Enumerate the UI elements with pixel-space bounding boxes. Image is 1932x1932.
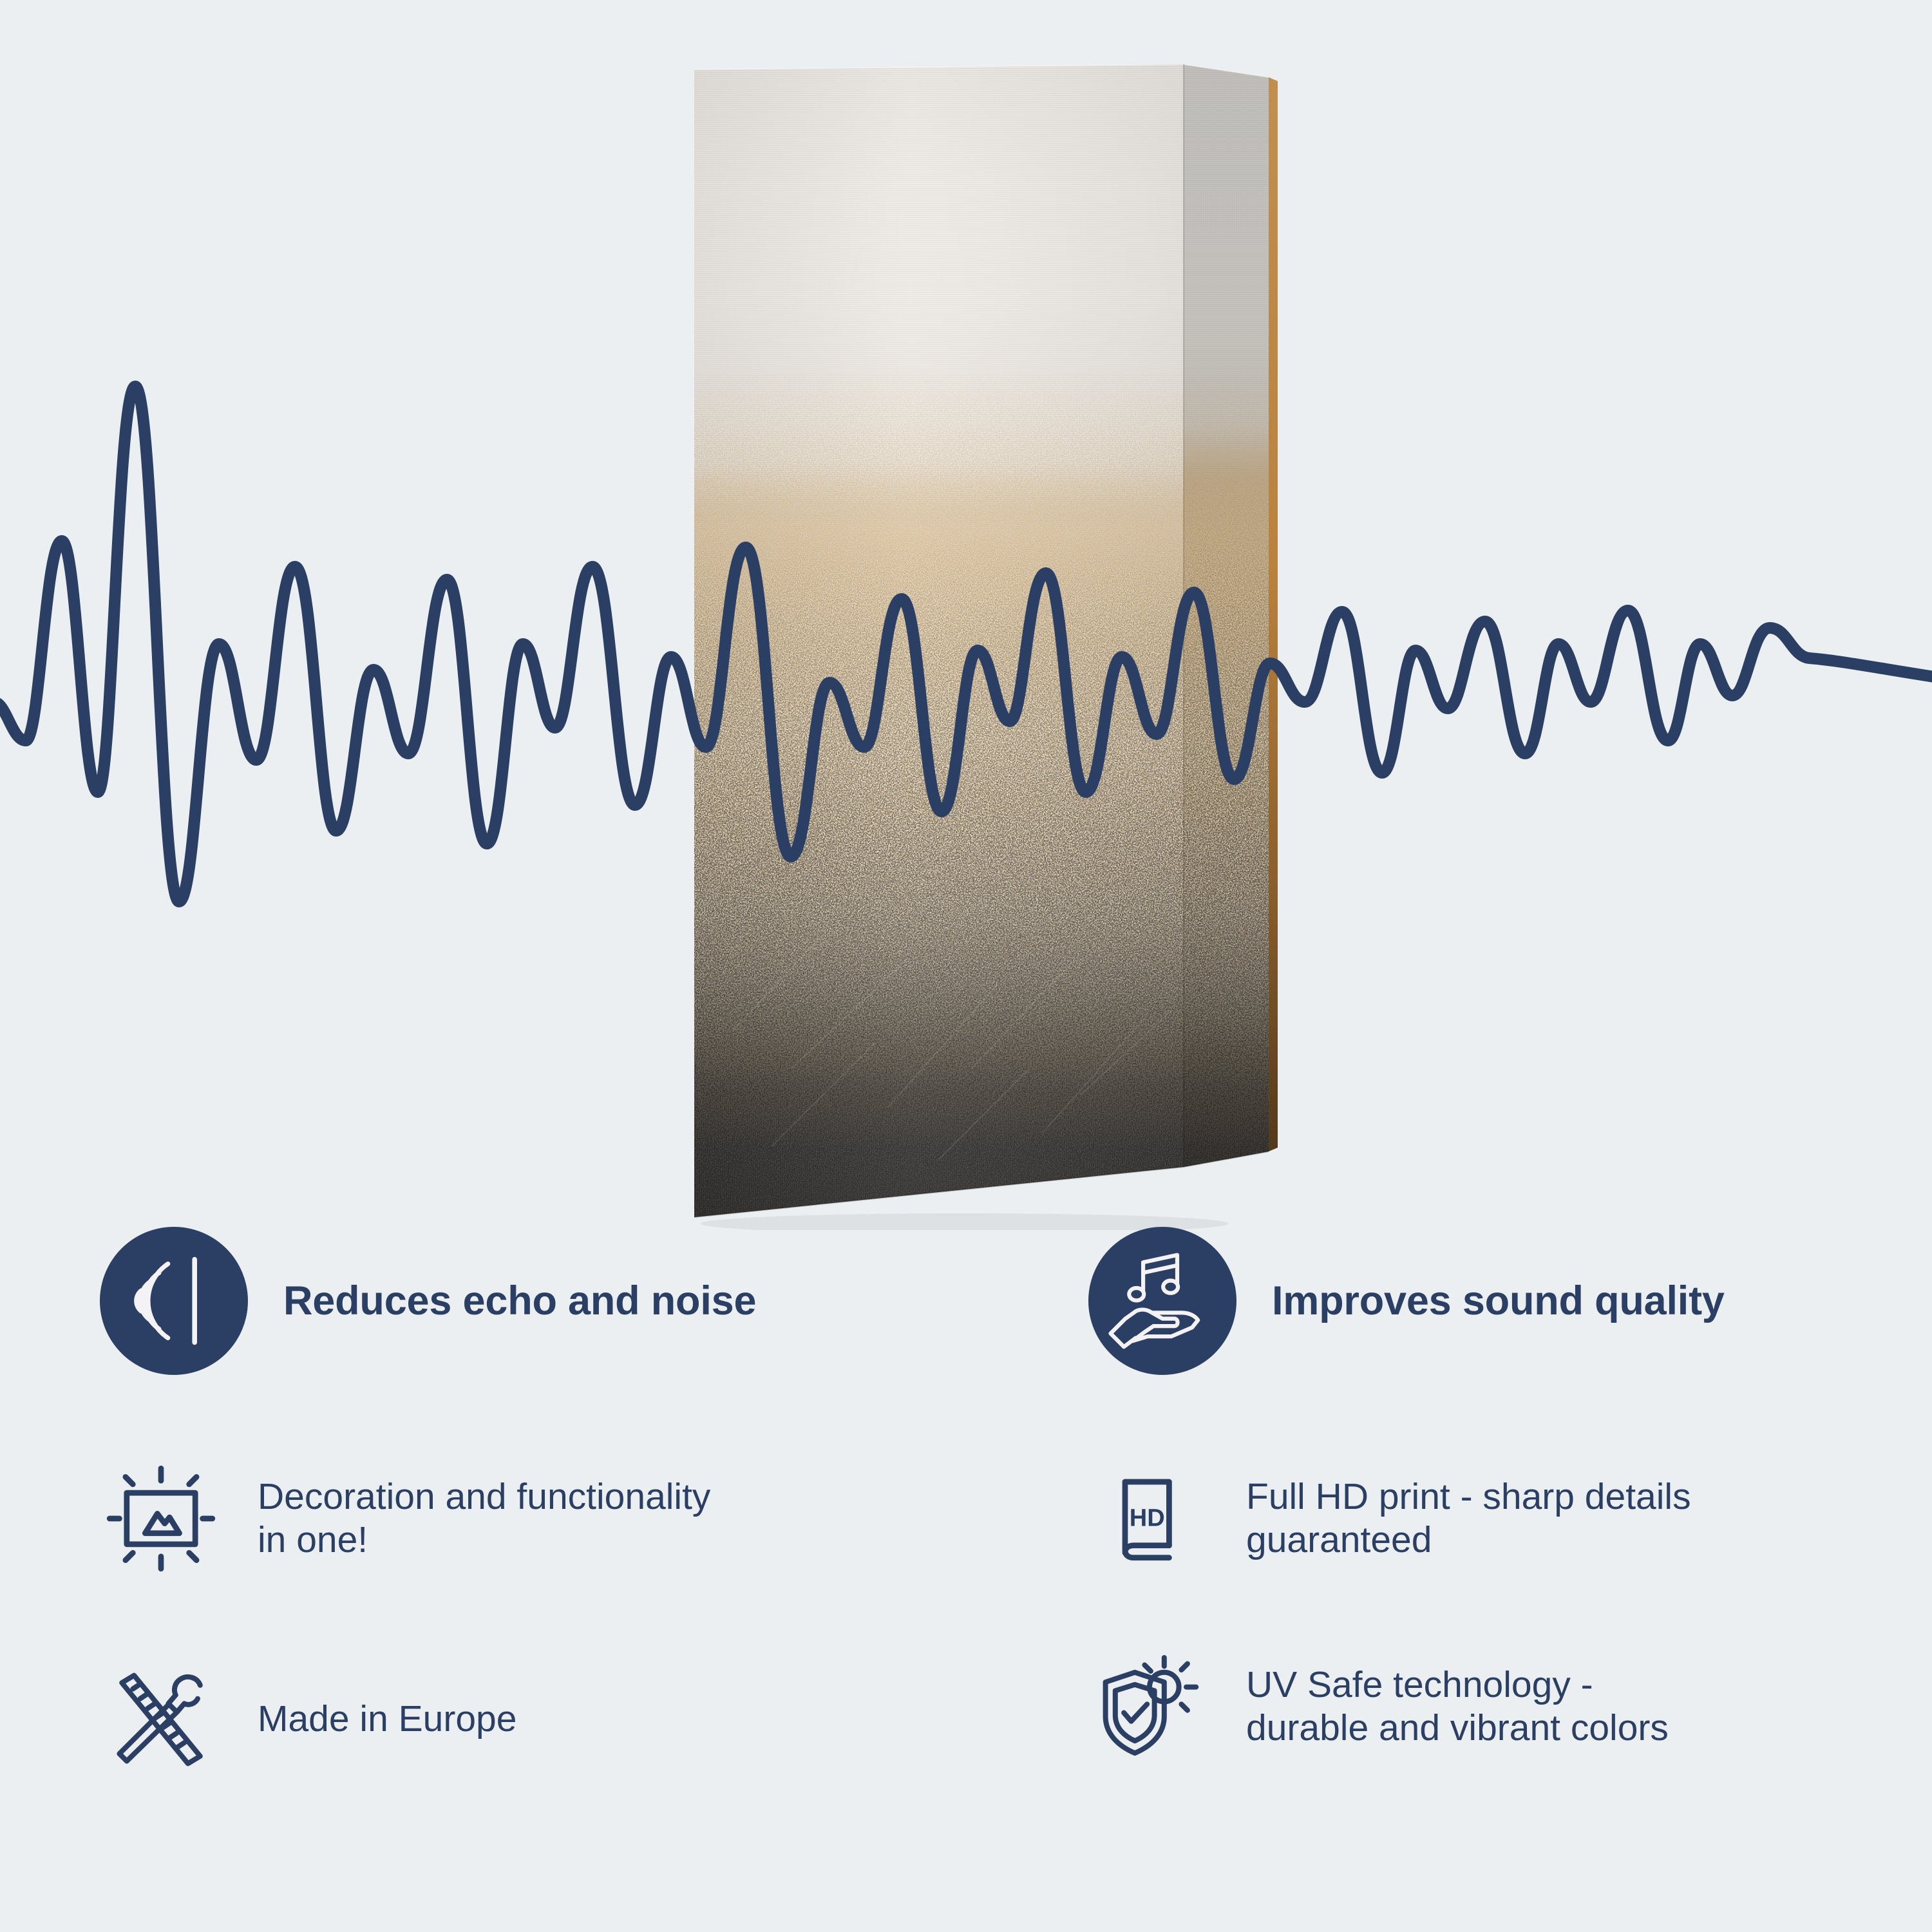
feature-label: Improves sound quality	[1272, 1277, 1725, 1325]
feature-improves-sound[interactable]: Improves sound quality	[1088, 1227, 1725, 1375]
feature-full-hd-print[interactable]: HD Full HD print - sharp details guarant…	[1088, 1457, 1691, 1580]
feature-reduces-echo[interactable]: Reduces echo and noise	[100, 1227, 756, 1375]
feature-label: UV Safe technology - durable and vibrant…	[1246, 1663, 1669, 1750]
hd-canvas-icon: HD	[1088, 1457, 1211, 1580]
feature-uv-safe[interactable]: UV Safe technology - durable and vibrant…	[1088, 1645, 1669, 1768]
framed-picture-shine-icon	[100, 1457, 222, 1580]
feature-label: Decoration and functionality in one!	[258, 1475, 710, 1562]
uv-shield-sun-icon	[1088, 1645, 1211, 1768]
feature-list: Reduces echo and noise	[0, 1227, 1932, 1932]
sound-waves-wall-icon	[100, 1227, 248, 1375]
infographic-stage: Reduces echo and noise	[0, 0, 1932, 1932]
hd-badge-text: HD	[1130, 1504, 1165, 1531]
feature-label: Full HD print - sharp details guaranteed	[1246, 1475, 1691, 1562]
music-note-hand-icon	[1088, 1227, 1236, 1375]
feature-made-in-europe[interactable]: Made in Europe	[100, 1658, 516, 1781]
feature-decoration-functionality[interactable]: Decoration and functionality in one!	[100, 1457, 710, 1580]
ruler-hammer-icon	[100, 1658, 222, 1781]
sound-wave-path	[0, 386, 1932, 902]
feature-label: Made in Europe	[258, 1698, 516, 1741]
feature-label: Reduces echo and noise	[283, 1277, 756, 1325]
